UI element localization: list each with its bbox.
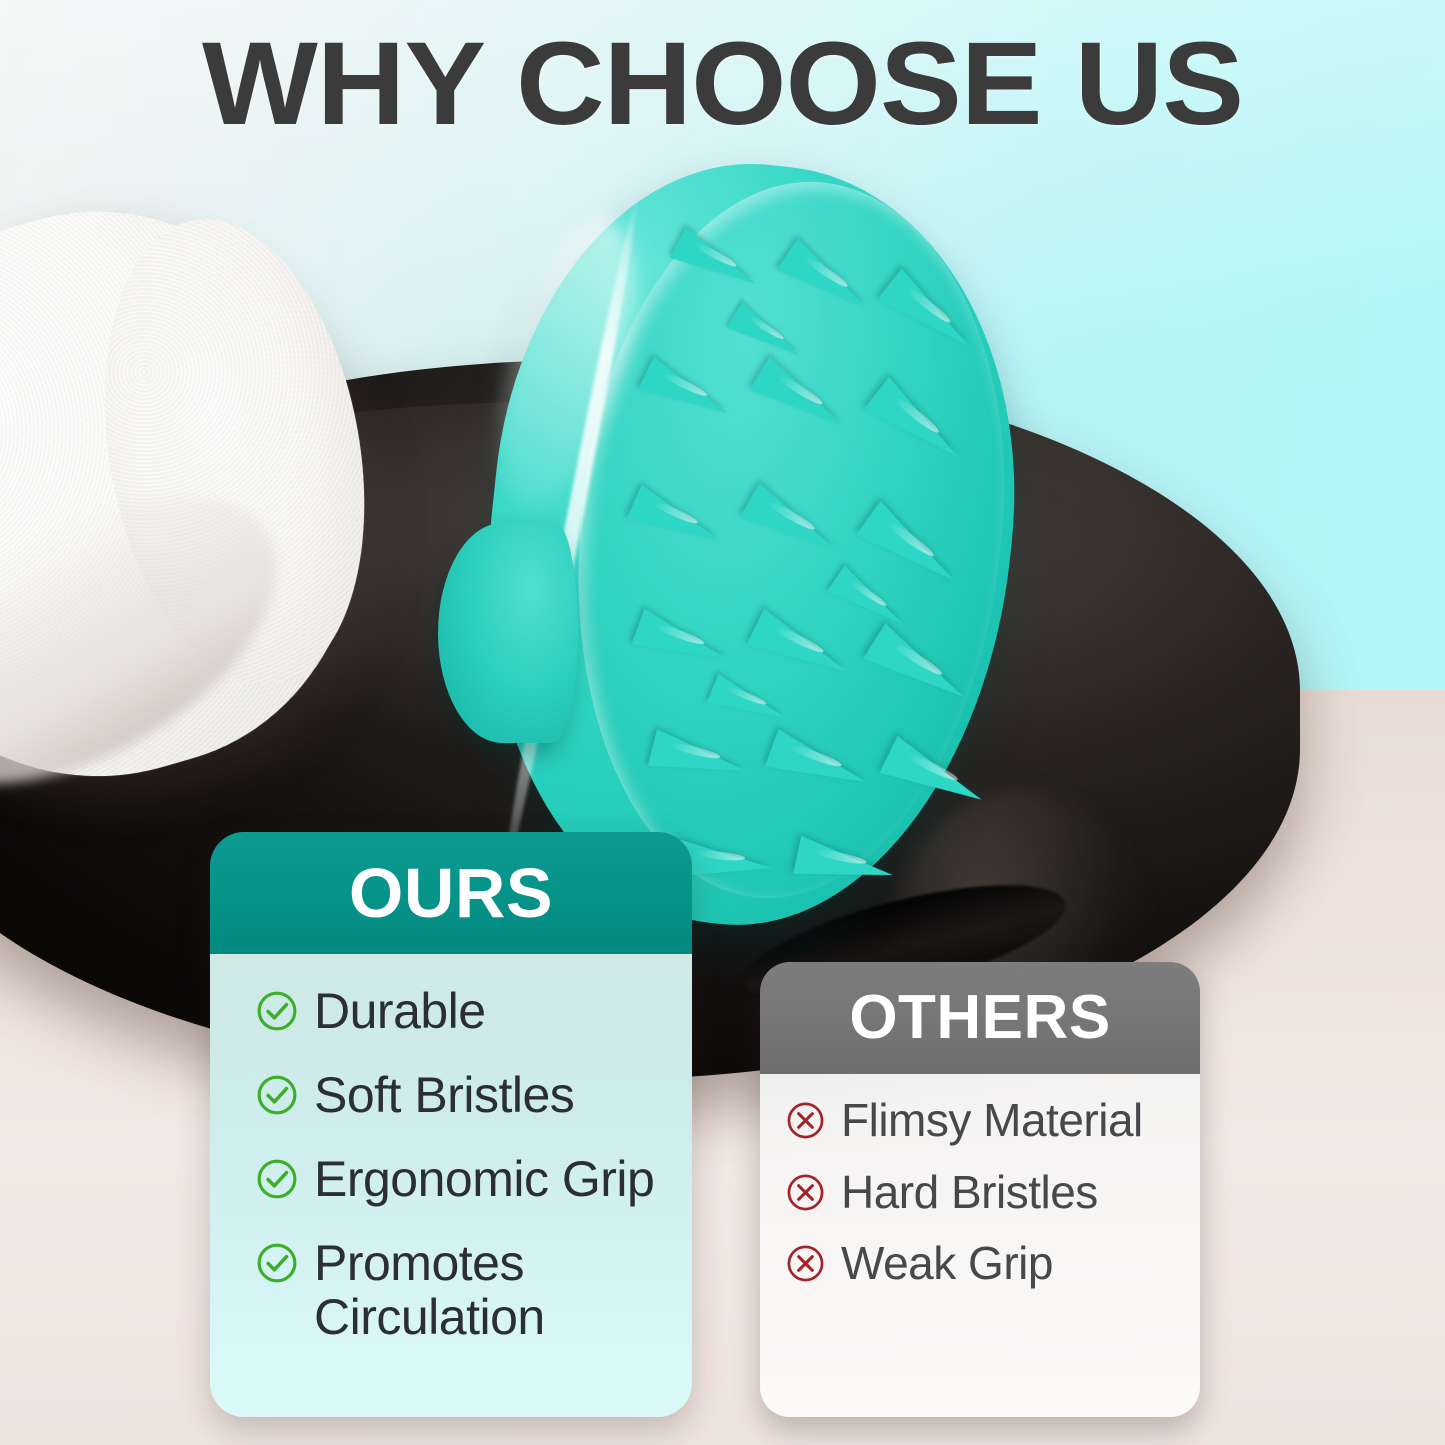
others-card-title: OTHERS [849,987,1110,1049]
list-item-label: Soft Bristles [314,1068,574,1122]
list-item: Hard Bristles [786,1168,1182,1218]
page-title: WHY CHOOSE US [0,16,1445,152]
list-item-label: Weak Grip [841,1239,1053,1289]
check-circle-icon [256,990,298,1032]
list-item-label: Durable [314,984,486,1038]
list-item-label: Promotes Circulation [314,1236,670,1344]
comparison-card-ours: OURS Durable [210,832,692,1417]
list-item: Promotes Circulation [256,1236,670,1344]
others-feature-list: Flimsy Material Hard Bristles [786,1096,1182,1289]
list-item-label: Hard Bristles [841,1168,1098,1218]
check-circle-icon [256,1242,298,1284]
ours-card-title: OURS [349,858,553,928]
list-item: Soft Bristles [256,1068,670,1122]
ours-card-header: OURS [210,832,692,954]
others-card-body: Flimsy Material Hard Bristles [760,1074,1200,1417]
check-circle-icon [256,1074,298,1116]
brush-handle [438,523,578,743]
list-item-label: Flimsy Material [841,1096,1143,1146]
x-circle-icon [786,1101,825,1140]
list-item: Durable [256,984,670,1038]
list-item: Ergonomic Grip [256,1152,670,1206]
ours-feature-list: Durable Soft Bristles [256,984,670,1344]
list-item-label: Ergonomic Grip [314,1152,654,1206]
check-circle-icon [256,1158,298,1200]
x-circle-icon [786,1173,825,1212]
x-circle-icon [786,1244,825,1283]
product-comparison-infographic: WHY CHOOSE US OURS Durable [0,0,1445,1445]
silicone-scalp-massager [430,155,1050,945]
others-card-header: OTHERS [760,962,1200,1074]
list-item: Weak Grip [786,1239,1182,1289]
comparison-card-others: OTHERS Flimsy Material [760,962,1200,1417]
ours-card-body: Durable Soft Bristles [210,954,692,1417]
list-item: Flimsy Material [786,1096,1182,1146]
